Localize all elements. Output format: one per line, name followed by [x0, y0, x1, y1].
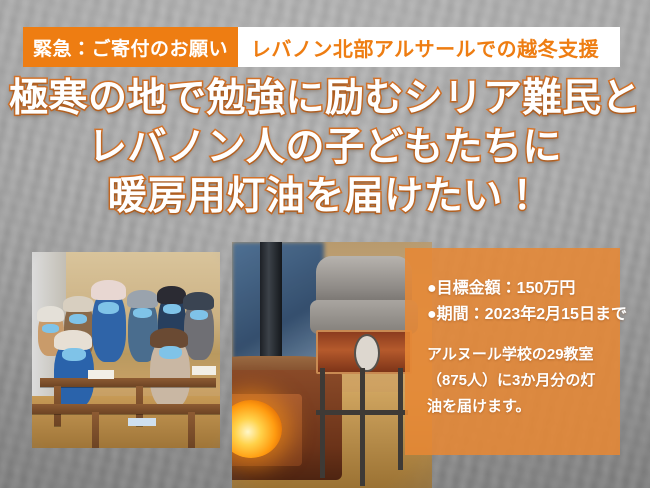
student-hat	[183, 292, 214, 310]
headline-line-1: 極寒の地で勉強に励むシリア難民と	[0, 74, 650, 123]
student-hat	[127, 290, 158, 308]
classroom-desk-leg	[188, 412, 195, 448]
student-hat	[63, 296, 94, 312]
headline-line-2: レバノン人の子どもたちに	[0, 123, 650, 172]
notebook	[88, 370, 114, 379]
kerosene-stove-photo	[232, 242, 432, 488]
campaign-note-line-3: 油を届けます。	[427, 394, 602, 420]
fuel-tank-body	[310, 300, 418, 334]
student-mask	[69, 314, 87, 324]
student-mask	[42, 324, 59, 333]
info-item-period: ●期間：2023年2月15日まで	[427, 302, 602, 328]
classroom-desk	[40, 378, 216, 387]
info-item-goal-amount-text: ●目標金額：150万円	[427, 280, 575, 297]
campaign-note-line-1: アルヌール学校の29教室	[427, 342, 602, 368]
campaign-info-panel: ●目標金額：150万円 ●期間：2023年2月15日まで アルヌール学校の29教…	[405, 248, 620, 455]
headline-line-3: 暖房用灯油を届けたい！	[0, 172, 650, 221]
info-item-period-text: ●期間：2023年2月15日まで	[427, 306, 627, 323]
header-title: レバノン北部アルサールでの越冬支援	[238, 27, 620, 67]
tank-stand-crossbar	[316, 410, 408, 415]
header-title-label: レバノン北部アルサールでの越冬支援	[251, 33, 599, 62]
tank-stand-leg	[360, 368, 365, 486]
donation-appeal-banner: 緊急：ご寄付のお願い レバノン北部アルサールでの越冬支援 極寒の地で勉強に励むシ…	[0, 0, 650, 488]
notebook	[192, 366, 216, 375]
student-mask	[190, 310, 208, 320]
student-hat	[37, 306, 64, 322]
tank-stand-leg	[320, 368, 325, 478]
student-mask	[98, 302, 119, 314]
campaign-note: アルヌール学校の29教室 （875人）に3か月分の灯 油を届けます。	[427, 342, 602, 420]
header-bar: 緊急：ご寄付のお願い レバノン北部アルサールでの越冬支援	[23, 27, 620, 67]
urgent-badge: 緊急：ご寄付のお願い	[23, 27, 238, 67]
notebook	[128, 418, 156, 426]
student-mask	[133, 308, 152, 318]
student-mask	[159, 346, 182, 359]
campaign-note-line-2: （875人）に3か月分の灯	[427, 368, 602, 394]
student-hat	[157, 286, 186, 304]
tank-stand-leg	[398, 368, 403, 470]
student-mask	[163, 304, 181, 314]
student-hat	[91, 280, 126, 300]
student-hat	[150, 328, 188, 348]
info-item-goal-amount: ●目標金額：150万円	[427, 276, 602, 302]
classroom-desk-leg	[92, 412, 99, 448]
classroom-photo	[32, 252, 220, 448]
urgent-badge-label: 緊急：ご寄付のお願い	[33, 34, 228, 61]
stove-chimney-pipe	[260, 242, 282, 370]
fuel-tank-gauge	[354, 334, 380, 372]
headline: 極寒の地で勉強に励むシリア難民と レバノン人の子どもたちに 暖房用灯油を届けたい…	[0, 74, 650, 221]
campaign-info-list: ●目標金額：150万円 ●期間：2023年2月15日まで	[427, 276, 602, 328]
student-hat	[54, 330, 92, 350]
student-mask	[62, 348, 86, 361]
